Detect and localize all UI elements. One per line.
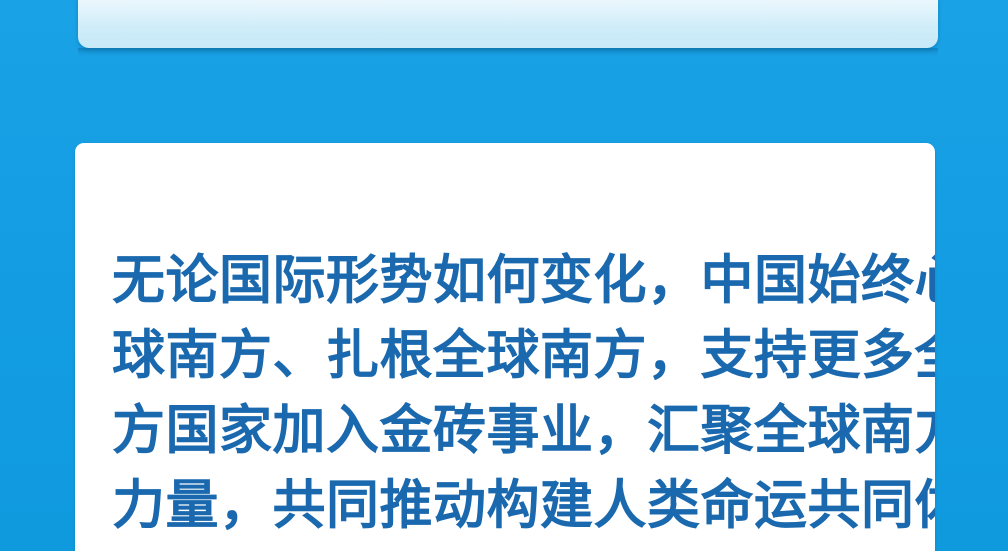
quote-line-2: 球南方、扎根全球南方，支持更多全球南 bbox=[112, 319, 902, 394]
top-panel-shadow bbox=[78, 48, 938, 57]
page-background: 无论国际形势如何变化，中国始终心系全 球南方、扎根全球南方，支持更多全球南 方国… bbox=[0, 0, 1008, 551]
quote-line-3: 方国家加入金砖事业，汇聚全球南方磅礴 bbox=[112, 394, 902, 469]
top-panel-highlight bbox=[78, 0, 938, 48]
quote-line-1: 无论国际形势如何变化，中国始终心系全 bbox=[112, 244, 902, 319]
quote-text-block: 无论国际形势如何变化，中国始终心系全 球南方、扎根全球南方，支持更多全球南 方国… bbox=[112, 244, 902, 544]
quote-card: 无论国际形势如何变化，中国始终心系全 球南方、扎根全球南方，支持更多全球南 方国… bbox=[75, 143, 935, 551]
quote-line-4: 力量，共同推动构建人类命运共同体。 bbox=[112, 469, 902, 544]
top-panel bbox=[78, 0, 938, 48]
